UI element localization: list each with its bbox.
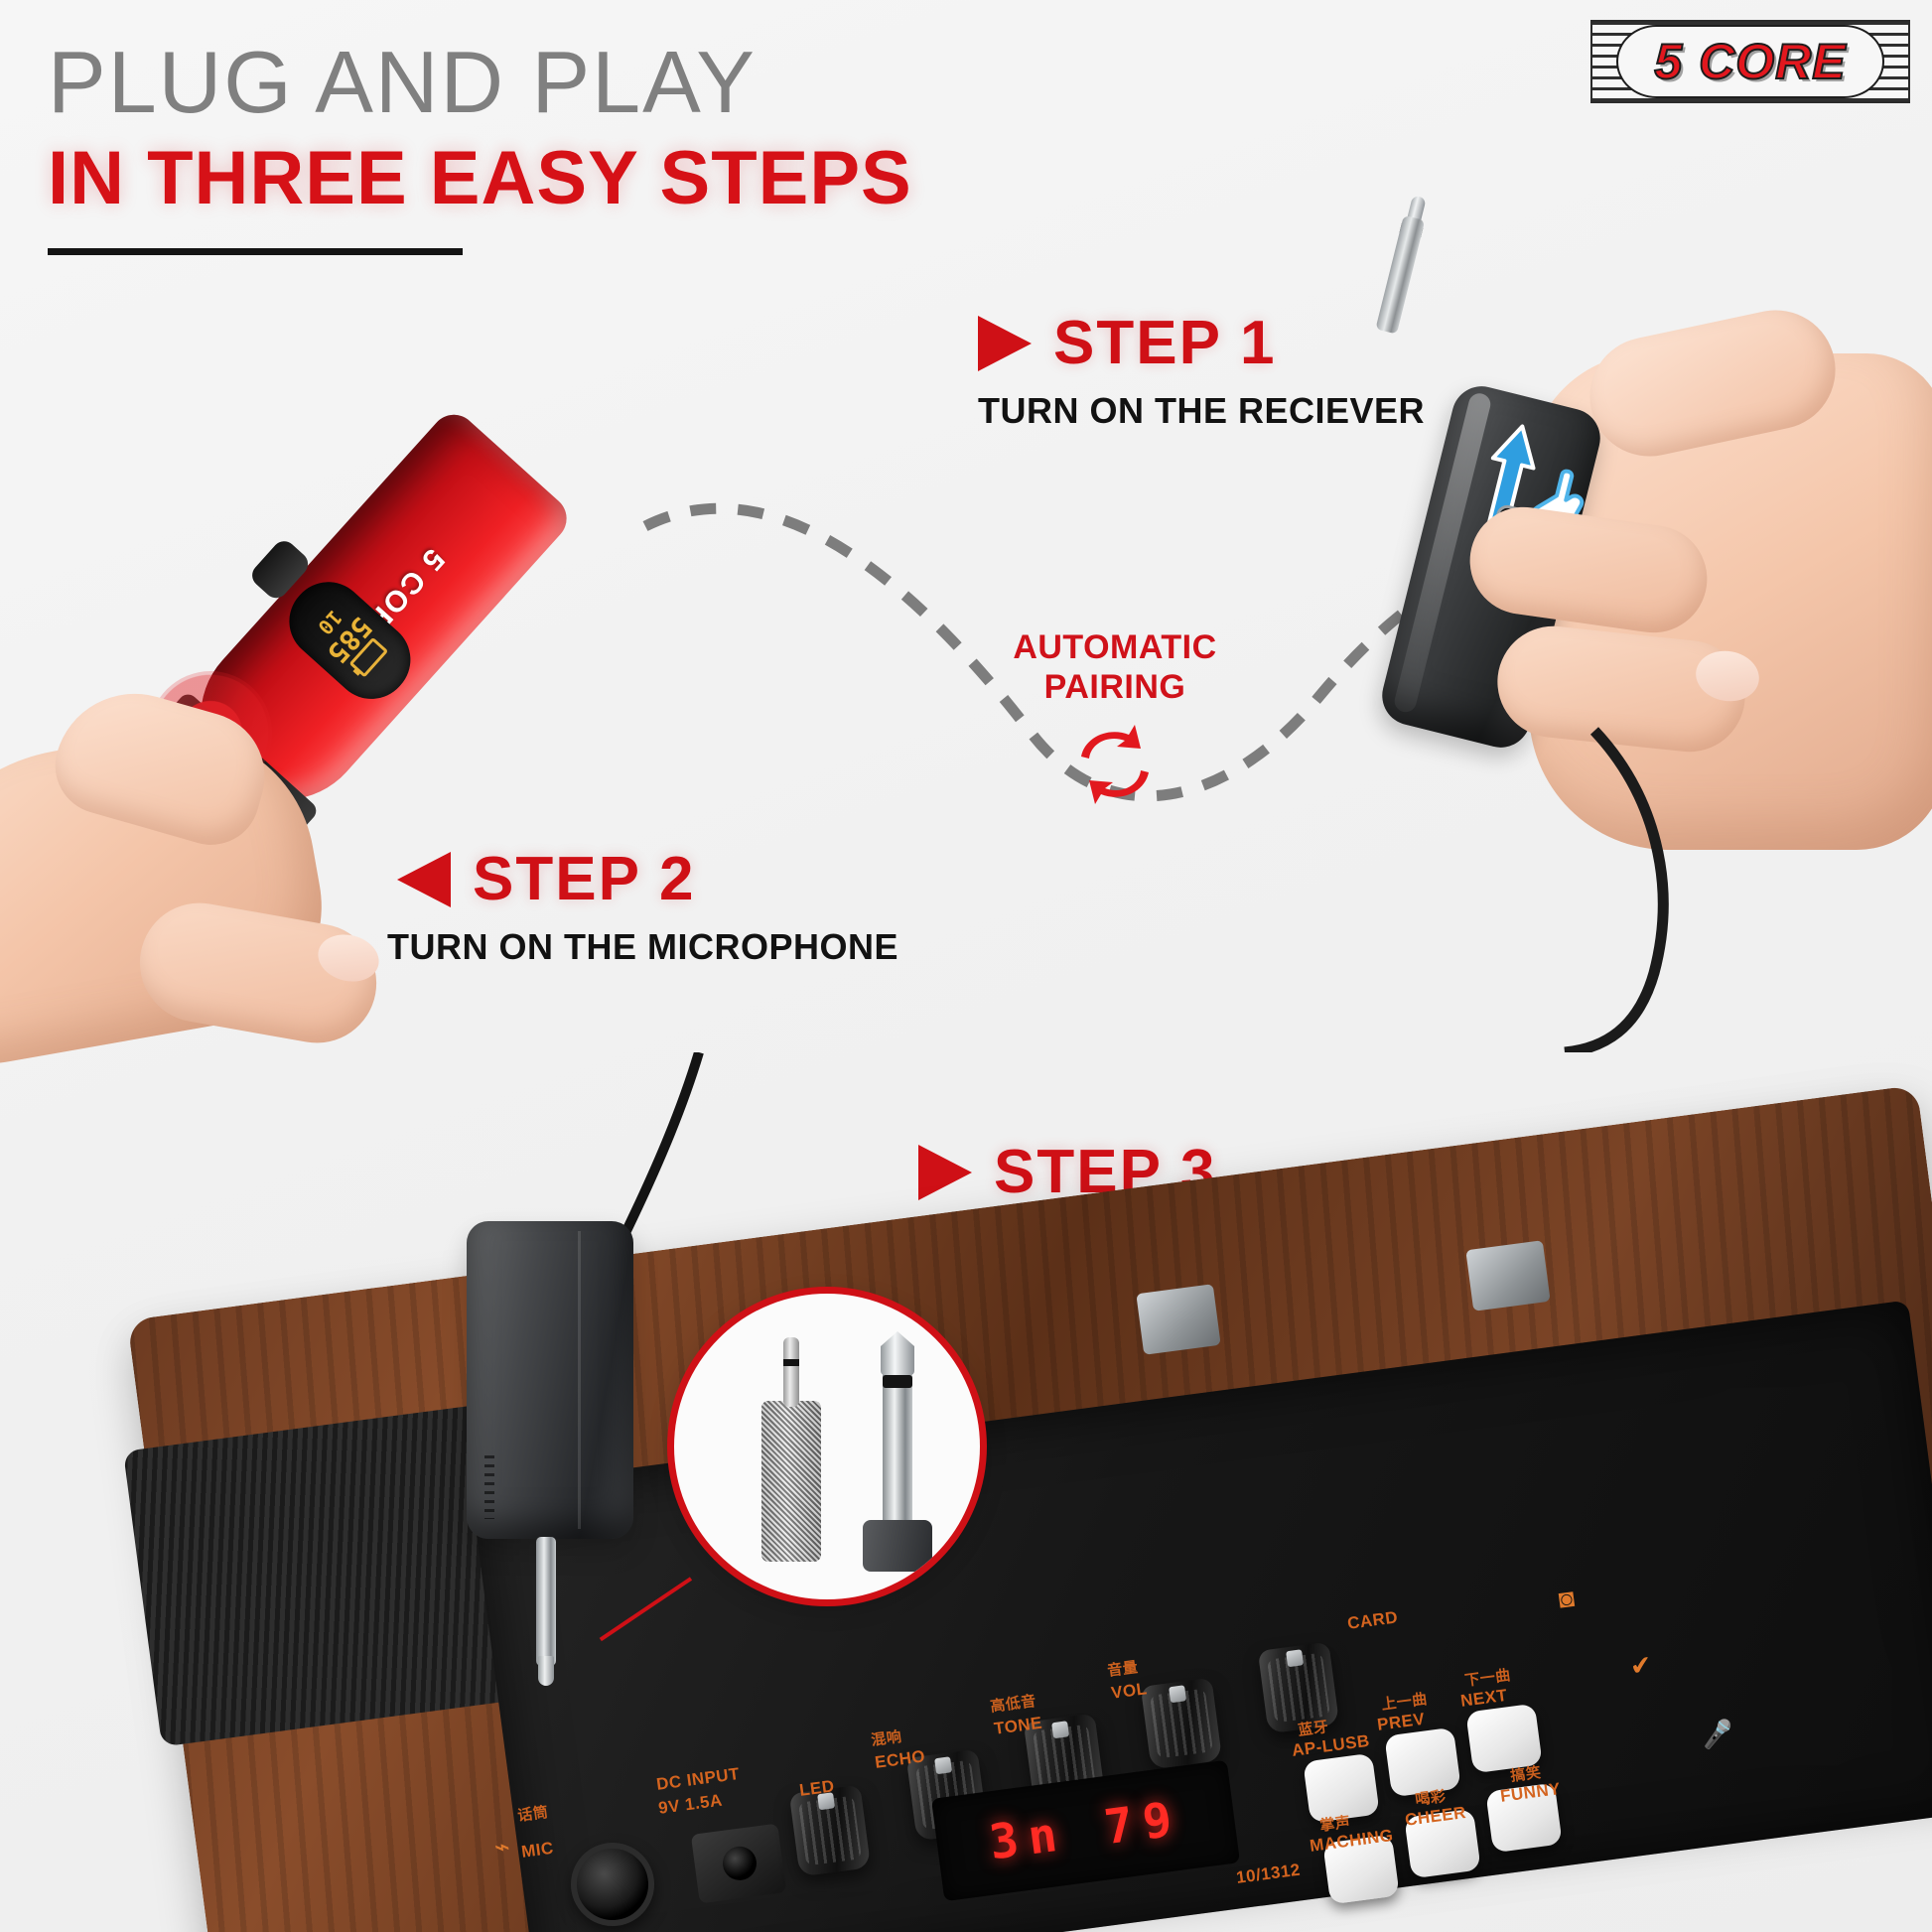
sync-arrows-icon bbox=[1069, 723, 1161, 806]
speaker-corner-protector bbox=[1136, 1284, 1220, 1355]
receiver-in-hand-illustration bbox=[1410, 298, 1932, 854]
pairing-line-1: AUTOMATIC bbox=[1001, 627, 1229, 667]
logo-word: CORE bbox=[1699, 33, 1846, 90]
knob-mid[interactable] bbox=[1141, 1678, 1222, 1770]
receiver-body-step3 bbox=[467, 1221, 633, 1539]
step-1-subtitle: TURN ON THE RECIEVER bbox=[978, 390, 1425, 432]
step-1-heading-row: STEP 1 bbox=[978, 313, 1425, 374]
dc-input-port[interactable] bbox=[691, 1824, 786, 1904]
receiver-plug bbox=[528, 1537, 562, 1686]
brand-logo: 5 CORE bbox=[1590, 20, 1910, 103]
automatic-pairing-badge: AUTOMATIC PAIRING bbox=[1001, 627, 1229, 811]
adapter-pin bbox=[783, 1337, 799, 1407]
arrow-right-icon bbox=[918, 1145, 972, 1200]
adapter-3-5mm-to-6-35mm bbox=[761, 1337, 821, 1562]
infographic-canvas: PLUG AND PLAY IN THREE EASY STEPS 5 CORE… bbox=[0, 0, 1932, 1932]
mic-icon: 🎤 bbox=[1700, 1718, 1735, 1752]
label-echo-cn: 混响 bbox=[870, 1725, 902, 1750]
adapter-insulator-ring bbox=[783, 1359, 799, 1366]
step-2-subtitle: TURN ON THE MICROPHONE bbox=[387, 926, 898, 968]
pairing-line-2: PAIRING bbox=[1001, 667, 1229, 707]
speaker-corner-protector bbox=[1465, 1240, 1550, 1311]
adapter-zoom-callout bbox=[667, 1287, 987, 1606]
step-1-block: STEP 1 TURN ON THE RECIEVER bbox=[978, 313, 1425, 432]
label-vol-cn: 音量 bbox=[1106, 1656, 1139, 1681]
page-title: PLUG AND PLAY IN THREE EASY STEPS bbox=[48, 38, 912, 218]
step-2-block: STEP 2 TURN ON THE MICROPHONE bbox=[397, 849, 898, 968]
receiver-cable bbox=[1559, 725, 1857, 1052]
title-line-1: PLUG AND PLAY bbox=[48, 38, 912, 127]
plug-housing bbox=[863, 1520, 932, 1572]
plug-shaft bbox=[536, 1537, 556, 1666]
receiver-seam bbox=[578, 1231, 581, 1529]
label-mic-en: MIC bbox=[520, 1839, 555, 1863]
logo-text: 5 CORE bbox=[1590, 20, 1910, 103]
step-1-title: STEP 1 bbox=[1053, 313, 1277, 374]
left-hand-holding-microphone bbox=[0, 685, 407, 1102]
plug-6-35mm bbox=[863, 1323, 932, 1572]
step-2-title: STEP 2 bbox=[473, 849, 696, 910]
step-2-heading-row: STEP 2 bbox=[397, 849, 898, 910]
arrow-right-icon bbox=[978, 316, 1032, 371]
receiver-cable-step3 bbox=[596, 1052, 715, 1241]
logo-number: 5 bbox=[1654, 33, 1683, 90]
receiver-step3 bbox=[467, 1221, 665, 1579]
plug-insulator bbox=[883, 1375, 912, 1388]
title-underline bbox=[48, 248, 463, 255]
plug-tip-detail bbox=[881, 1331, 914, 1375]
plug-tip bbox=[538, 1656, 554, 1686]
arrow-left-icon bbox=[397, 852, 451, 907]
lcd-value: 3n 79 bbox=[986, 1791, 1184, 1871]
label-mic-cn: 话筒 bbox=[516, 1801, 549, 1826]
adapter-knurled-barrel bbox=[761, 1401, 821, 1562]
title-line-2: IN THREE EASY STEPS bbox=[48, 139, 912, 218]
play-icon: ✔ bbox=[1628, 1649, 1654, 1683]
plug-barrel bbox=[883, 1365, 912, 1534]
receiver-vent bbox=[484, 1455, 494, 1519]
